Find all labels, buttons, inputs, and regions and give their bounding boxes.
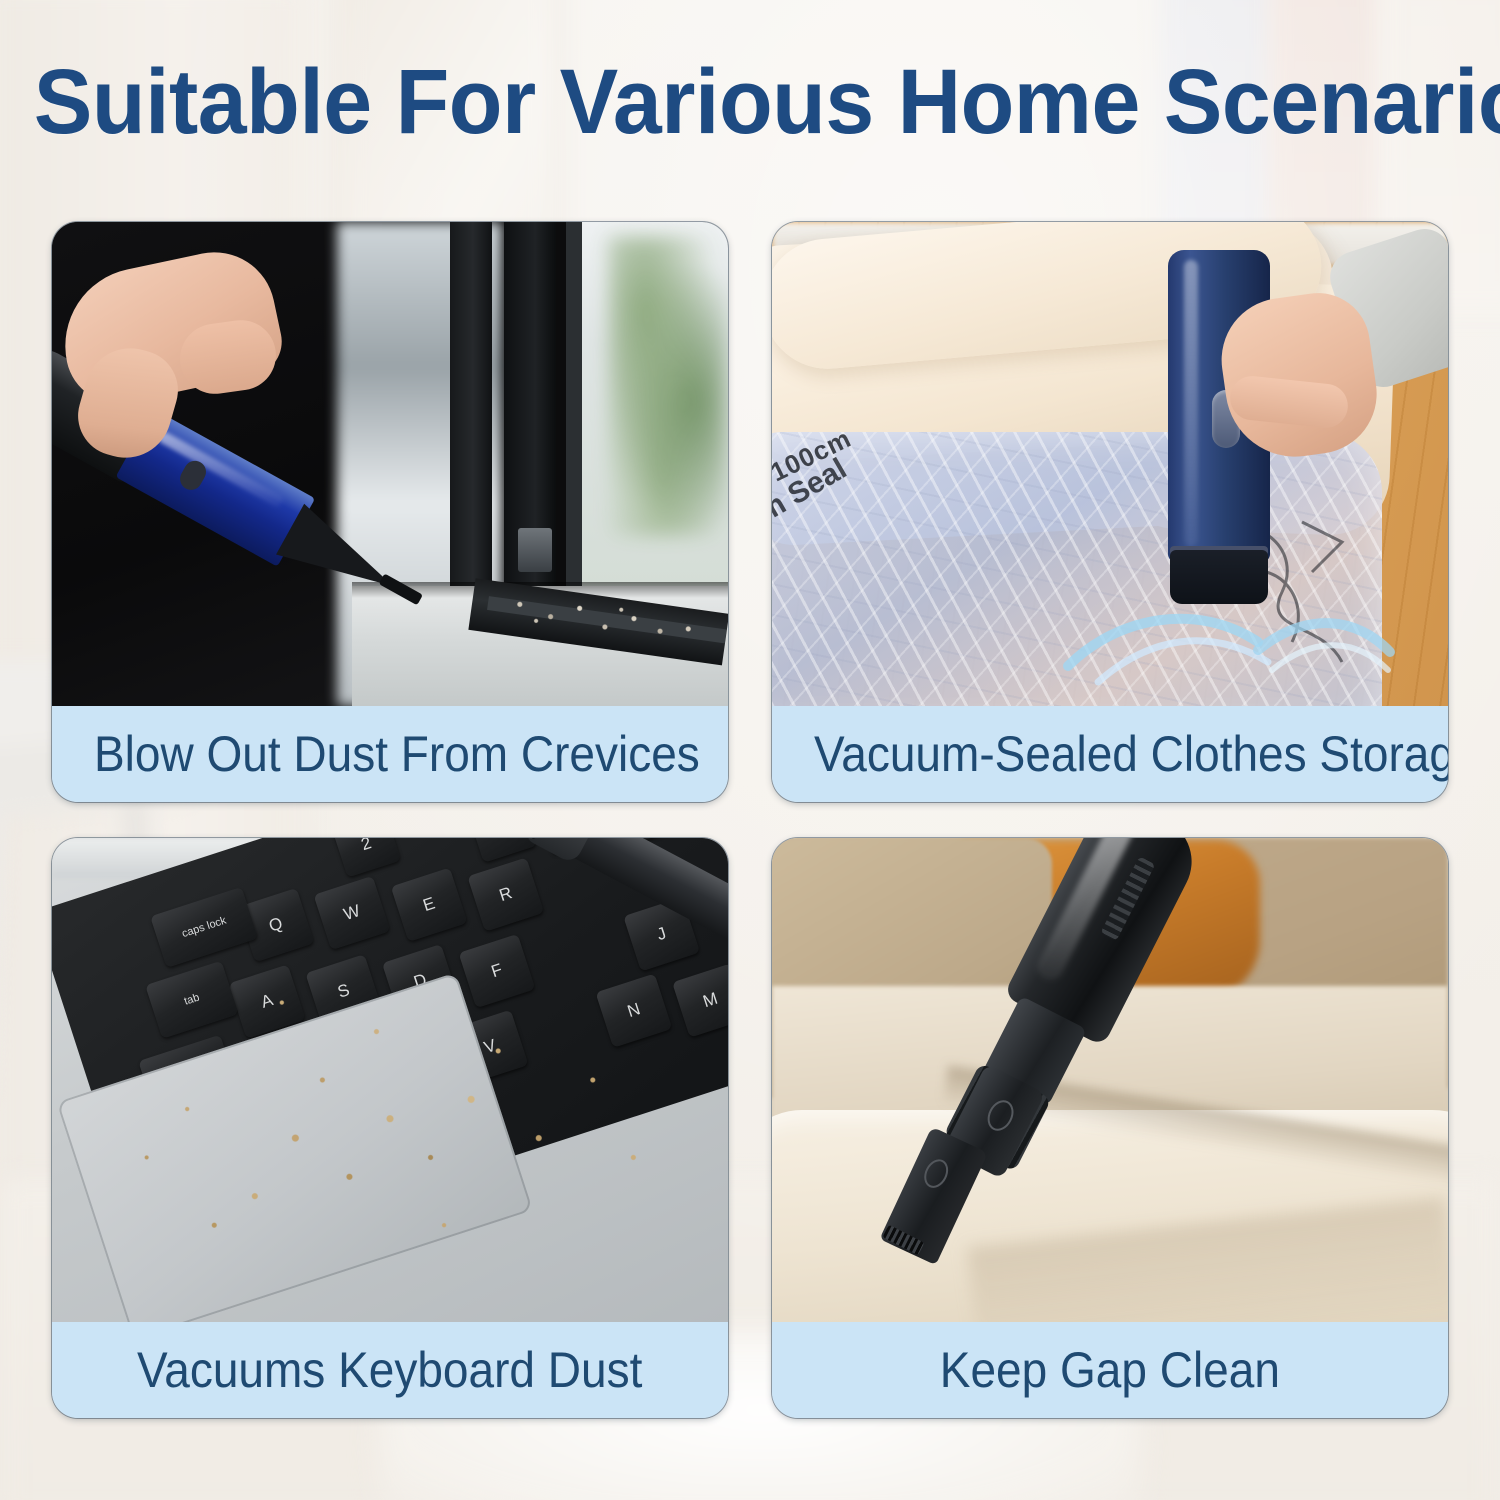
keyboard-key: F: [459, 934, 536, 1008]
card-caption-text: Keep Gap Clean: [940, 1345, 1280, 1395]
keyboard-key: 2: [332, 838, 401, 878]
infographic-page: Suitable For Various Home Scenarios: [0, 0, 1500, 1500]
card-caption-text: Vacuums Keyboard Dust: [137, 1345, 642, 1395]
scenario-card-vacuum-sealed-storage[interactable]: 100cm m Seal: [772, 222, 1448, 802]
scenario-card-blow-out-dust[interactable]: Blow Out Dust From Crevices: [52, 222, 728, 802]
keyboard-key: E: [391, 868, 468, 942]
hand: [62, 262, 277, 462]
card-caption-bar: Blow Out Dust From Crevices: [52, 706, 728, 802]
card-caption-text: Blow Out Dust From Crevices: [94, 729, 700, 779]
photo-laptop-keyboard: QWERASDFZXCVJNM2456commandcommandshiftta…: [52, 838, 728, 1322]
photo-sofa-gap: [772, 838, 1448, 1322]
scenario-card-vacuums-keyboard-dust[interactable]: QWERASDFZXCVJNM2456commandcommandshiftta…: [52, 838, 728, 1418]
scenario-card-keep-gap-clean[interactable]: Keep Gap Clean: [772, 838, 1448, 1418]
keyboard-key: tab: [145, 961, 238, 1039]
keyboard-key: caps lock: [150, 887, 258, 968]
hand: [1224, 262, 1444, 492]
keyboard-key: M: [672, 963, 728, 1037]
card-caption-text: Vacuum-Sealed Clothes Storage: [814, 729, 1448, 779]
photo-window-crevice: [52, 222, 728, 706]
card-caption-bar: Vacuum-Sealed Clothes Storage: [772, 706, 1448, 802]
photo-vacuum-bag-bed: 100cm m Seal: [772, 222, 1448, 706]
card-caption-bar: Keep Gap Clean: [772, 1322, 1448, 1418]
card-caption-bar: Vacuums Keyboard Dust: [52, 1322, 728, 1418]
page-title: Suitable For Various Home Scenarios: [34, 56, 1467, 150]
keyboard-key: R: [467, 857, 544, 931]
keyboard-key: N: [595, 973, 672, 1047]
keyboard-key: W: [313, 876, 390, 950]
scenario-grid: Blow Out Dust From Crevices 100cm m Seal: [52, 222, 1448, 1418]
